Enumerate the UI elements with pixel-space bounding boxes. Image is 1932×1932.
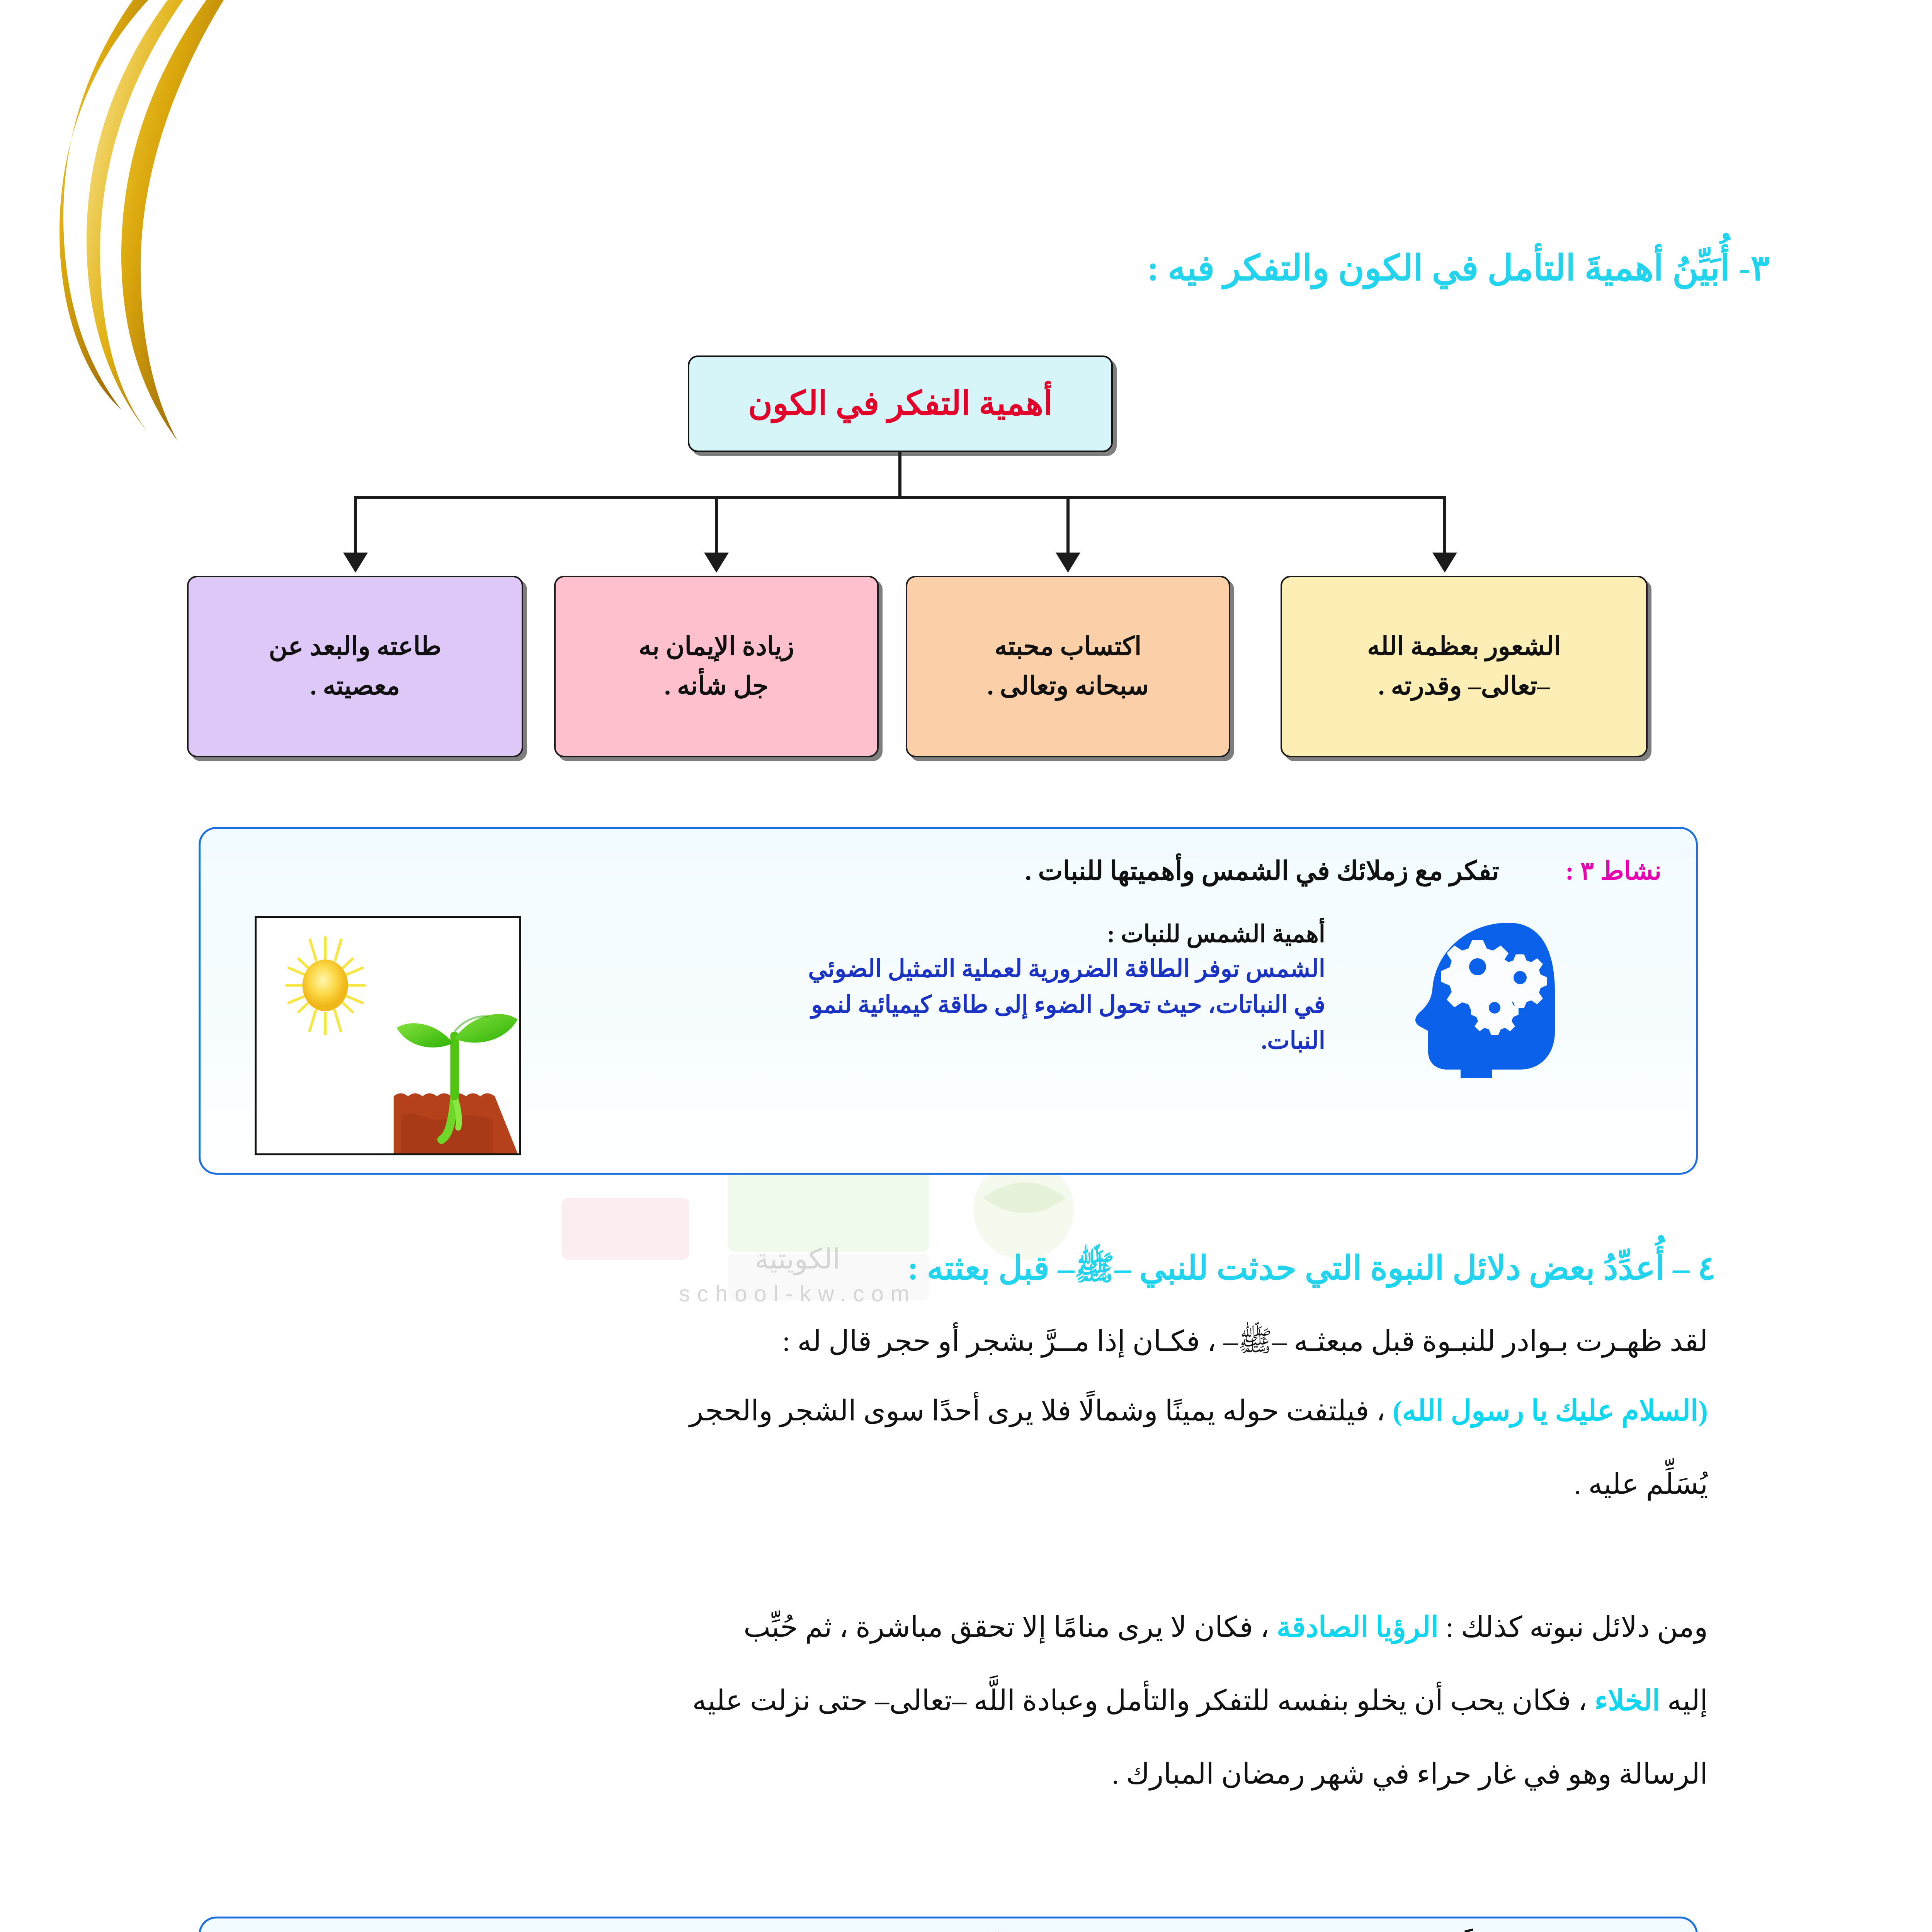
page-content: ٣- أُبَيِّنُ أهميةَ التأمل في الكون والت… bbox=[0, 0, 1932, 1932]
para1-line2-rest: ، فيلتفت حوله يمينًا وشمالًا فلا يرى أحد… bbox=[689, 1395, 1393, 1427]
diagram-connector-leg-3 bbox=[354, 496, 357, 554]
activity-4-card bbox=[199, 1917, 1698, 1932]
activity-3-answer-body: الشمس توفر الطاقة الضرورية لعملية التمثي… bbox=[777, 951, 1325, 1059]
question-3-heading: ٣- أُبَيِّنُ أهميةَ التأمل في الكون والت… bbox=[1147, 247, 1770, 289]
para1-line3: يُسَلِّم عليه . bbox=[1574, 1469, 1708, 1500]
diagram-arrow-2 bbox=[704, 553, 729, 573]
diagram-connector-root-stem bbox=[898, 452, 901, 498]
concept-map-diagram: أهمية التفكر في الكون الشعور بعظمة الله … bbox=[0, 336, 1932, 792]
diagram-leaf-node-3: طاعته والبعد عن معصيته . bbox=[187, 576, 523, 757]
diagram-leaf-node-0: الشعور بعظمة الله –تعالى– وقدرته . bbox=[1281, 576, 1648, 757]
diagram-arrow-3 bbox=[343, 553, 368, 573]
diagram-arrow-0 bbox=[1432, 553, 1457, 573]
body-paragraph-2-line3: الرسالة وهو في غار حراء في شهر رمضان الم… bbox=[193, 1747, 1708, 1802]
para2-line2-a: إليه bbox=[1660, 1685, 1708, 1717]
body-paragraph-2-line2: إليه الخلاء ، فكان يحب أن يخلو بنفسه للت… bbox=[193, 1673, 1708, 1729]
para2-seclusion-term: الخلاء bbox=[1595, 1685, 1660, 1717]
activity-3-label: نشاط ٣ : bbox=[1565, 856, 1662, 886]
body-paragraph-1: لقد ظهـرت بـوادر للنبـوة قبل مبعثـه –ﷺ– … bbox=[193, 1314, 1708, 1369]
para2-line2-b: ، فكان يحب أن يخلو بنفسه للتفكر والتأمل … bbox=[692, 1685, 1595, 1717]
para1-salam-quote: (السلام عليك يا رسول الله) bbox=[1393, 1395, 1708, 1427]
diagram-connector-leg-0 bbox=[1443, 496, 1446, 554]
diagram-leaf-node-2: زيادة الإيمان به جل شأنه . bbox=[554, 576, 879, 757]
para2-true-vision-term: الرؤيا الصادقة bbox=[1277, 1612, 1439, 1643]
question-4-heading: ٤ – أُعدِّدُ بعض دلائل النبوة التي حدثت … bbox=[908, 1248, 1716, 1296]
diagram-root-node: أهمية التفكر في الكون bbox=[688, 355, 1113, 452]
activity-3-answer: أهمية الشمس للنبات : الشمس توفر الطاقة ا… bbox=[777, 918, 1325, 1059]
para2-line1-b: ، فكان لا يرى منامًا إلا تحقق مباشرة ، ث… bbox=[743, 1612, 1277, 1643]
sun-and-seedling-illustration bbox=[255, 916, 521, 1155]
activity-3-prompt: تفكر مع زملائك في الشمس وأهميتها للنبات … bbox=[456, 852, 1499, 890]
diagram-connector-horizontal-bus bbox=[354, 496, 1444, 499]
para2-line3: الرسالة وهو في غار حراء في شهر رمضان الم… bbox=[1112, 1759, 1708, 1790]
diagram-arrow-1 bbox=[1056, 553, 1080, 573]
head-with-gears-icon bbox=[1393, 916, 1570, 1078]
activity-3-answer-title: أهمية الشمس للنبات : bbox=[777, 918, 1325, 951]
para1-line1: لقد ظهـرت بـوادر للنبـوة قبل مبعثـه –ﷺ– … bbox=[782, 1326, 1708, 1357]
diagram-connector-leg-2 bbox=[715, 496, 718, 554]
body-paragraph-1-line2: (السلام عليك يا رسول الله) ، فيلتفت حوله… bbox=[193, 1383, 1708, 1439]
diagram-connector-leg-1 bbox=[1066, 496, 1070, 554]
body-paragraph-1-line3: يُسَلِّم عليه . bbox=[193, 1457, 1708, 1512]
diagram-leaf-node-1: اكتساب محبته سبحانه وتعالى . bbox=[906, 576, 1230, 757]
body-paragraph-2-line1: ومن دلائل نبوته كذلك : الرؤيا الصادقة ، … bbox=[193, 1600, 1708, 1655]
para2-line1-a: ومن دلائل نبوته كذلك : bbox=[1439, 1612, 1708, 1643]
